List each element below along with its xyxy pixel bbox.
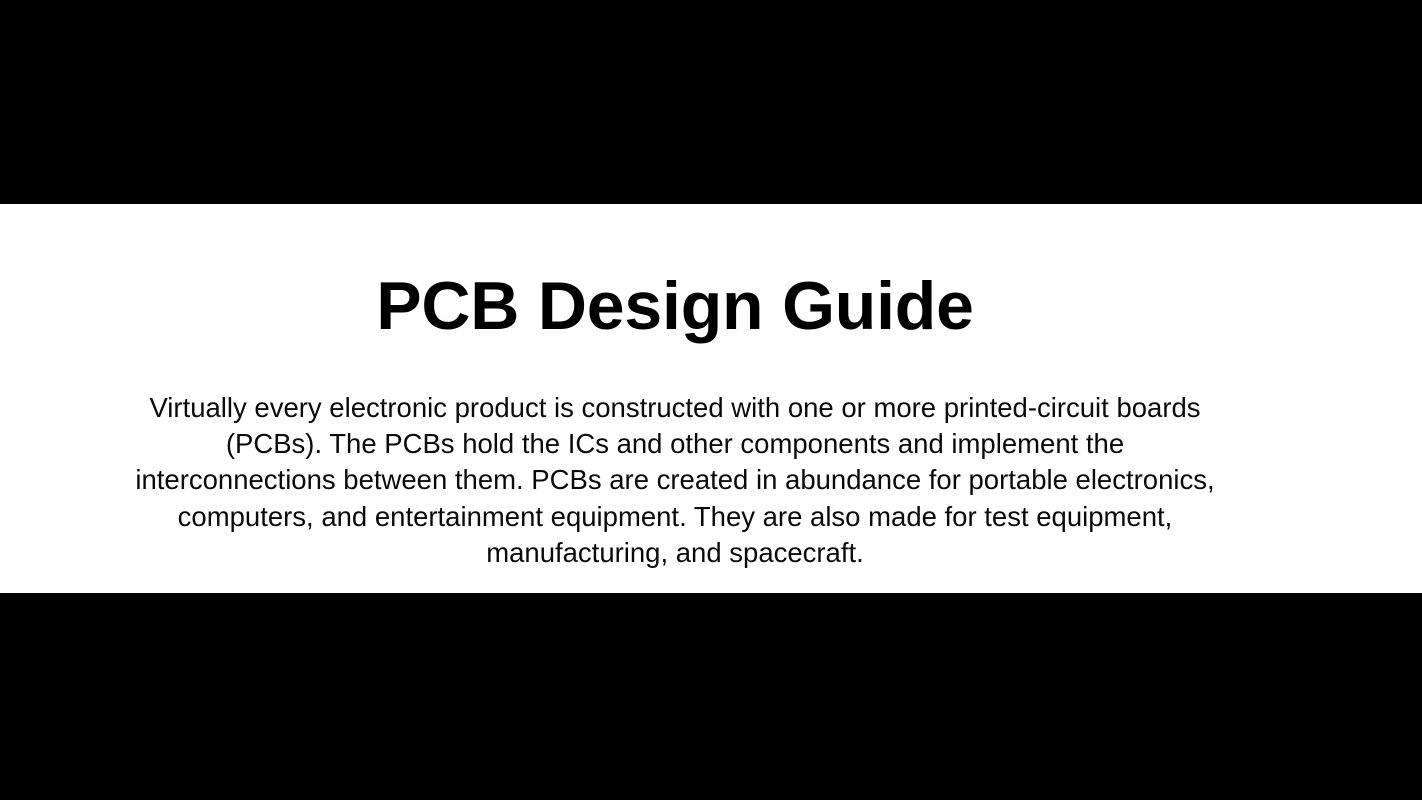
body-line: interconnections between them. PCBs are …	[38, 462, 1312, 498]
video-frame: PCB Design Guide Virtually every electro…	[0, 0, 1422, 800]
letterbox-bar-bottom	[0, 593, 1422, 800]
body-line: Virtually every electronic product is co…	[38, 390, 1312, 426]
body-line: computers, and entertainment equipment. …	[38, 499, 1312, 535]
letterbox-bar-top	[0, 0, 1422, 204]
body-line: (PCBs). The PCBs hold the ICs and other …	[38, 426, 1312, 462]
body-line: manufacturing, and spacecraft.	[38, 535, 1312, 571]
slide-inner-container: PCB Design Guide Virtually every electro…	[38, 204, 1312, 593]
slide-body-paragraph: Virtually every electronic product is co…	[38, 390, 1312, 571]
slide-title: PCB Design Guide	[38, 270, 1312, 342]
slide-content-area: PCB Design Guide Virtually every electro…	[0, 204, 1422, 593]
